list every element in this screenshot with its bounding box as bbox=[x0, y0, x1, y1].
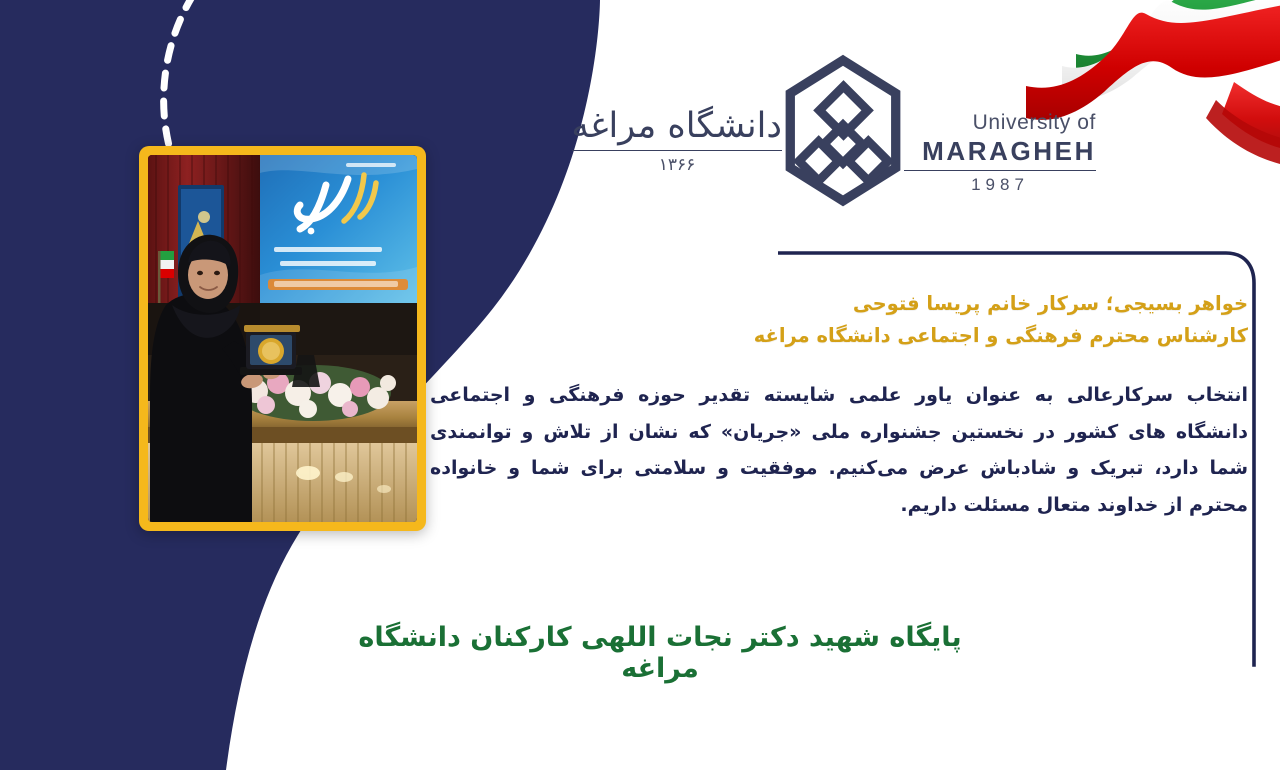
logo-year-1987: 1987 bbox=[904, 171, 1096, 195]
message-headline: خواهر بسیجی؛ سرکار خانم پریسا فتوحی کارش… bbox=[430, 288, 1248, 351]
congratulation-poster: University of MARAGHEH 1987 bbox=[0, 0, 1280, 770]
university-logo-lockup: University of MARAGHEH 1987 bbox=[556, 48, 1096, 198]
logo-maragheh-label: MARAGHEH bbox=[904, 136, 1096, 171]
award-photo bbox=[148, 155, 417, 522]
message-body-paragraph: انتخاب سرکارعالی به عنوان یاور علمی شایس… bbox=[430, 377, 1248, 523]
congratulation-message: خواهر بسیجی؛ سرکار خانم پریسا فتوحی کارش… bbox=[430, 288, 1248, 523]
logo-english-wordmark: University of MARAGHEH 1987 bbox=[904, 48, 1096, 195]
hexagon-diamond-logo-icon bbox=[782, 48, 904, 207]
award-photo-card bbox=[139, 146, 426, 531]
logo-persian-name: دانشگاه مراغه bbox=[572, 106, 782, 151]
footer-signature: پایگاه شهید دکتر نجات اللهی کارکنان دانش… bbox=[330, 622, 990, 684]
logo-persian-wordmark: دانشگاه مراغه ۱۳۶۶ bbox=[572, 48, 782, 175]
headline-line-1: خواهر بسیجی؛ سرکار خانم پریسا فتوحی bbox=[430, 288, 1248, 320]
message-body: انتخاب سرکارعالی به عنوان یاور علمی شایس… bbox=[430, 377, 1248, 523]
logo-persian-year: ۱۳۶۶ bbox=[572, 151, 782, 175]
headline-line-2: کارشناس محترم فرهنگی و اجتماعی دانشگاه م… bbox=[430, 320, 1248, 352]
logo-university-of-label: University of bbox=[904, 110, 1096, 136]
